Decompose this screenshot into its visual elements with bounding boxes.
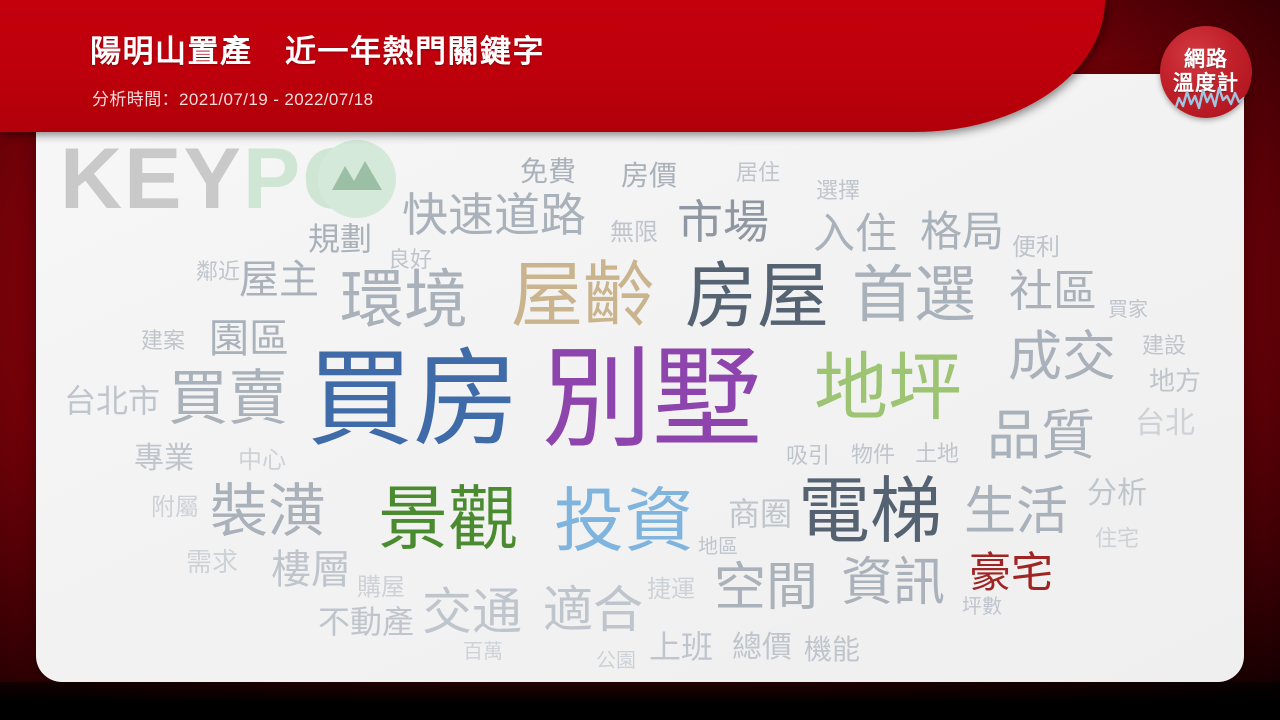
wordcloud-word[interactable]: 選擇 xyxy=(816,180,860,202)
wordcloud-word[interactable]: 屋主 xyxy=(239,260,319,300)
wordcloud-word[interactable]: 無限 xyxy=(610,221,658,245)
wordcloud-word[interactable]: 樓層 xyxy=(271,550,351,590)
wordcloud-word[interactable]: 台北市 xyxy=(64,385,160,417)
wordcloud-word[interactable]: 建案 xyxy=(141,330,185,352)
brand-logo[interactable]: 網路 溫度計 xyxy=(1160,26,1252,118)
background-bottom-bar xyxy=(0,682,1280,720)
wordcloud-word[interactable]: 公園 xyxy=(596,651,636,671)
wordcloud-word[interactable]: 景觀 xyxy=(378,484,518,554)
wordcloud-word[interactable]: 免費 xyxy=(520,158,576,186)
screenshot-root: KEYPO 買房別墅電梯地坪房屋屋齡景觀投資買賣環境首選裝潢成交品質空間資訊生活… xyxy=(0,0,1280,720)
analysis-period-label: 分析時間：2021/07/19 - 2022/07/18 xyxy=(92,85,373,110)
wordcloud-word[interactable]: 不動產 xyxy=(318,606,414,638)
wordcloud-word[interactable]: 建設 xyxy=(1142,335,1186,357)
wordcloud-word[interactable]: 吸引 xyxy=(786,445,830,467)
wordcloud-card: KEYPO 買房別墅電梯地坪房屋屋齡景觀投資買賣環境首選裝潢成交品質空間資訊生活… xyxy=(36,74,1244,682)
wordcloud-word[interactable]: 快速道路 xyxy=(402,192,586,238)
wordcloud-word[interactable]: 專業 xyxy=(134,444,194,474)
wordcloud-word[interactable]: 資訊 xyxy=(841,557,945,609)
wordcloud-word[interactable]: 機能 xyxy=(804,636,860,664)
wordcloud-word[interactable]: 便利 xyxy=(1012,236,1060,260)
wordcloud-word[interactable]: 地坪 xyxy=(814,351,962,425)
wordcloud-canvas: 買房別墅電梯地坪房屋屋齡景觀投資買賣環境首選裝潢成交品質空間資訊生活交通適合快速… xyxy=(36,74,1244,682)
wordcloud-word[interactable]: 物件 xyxy=(851,444,895,466)
wordcloud-word[interactable]: 購屋 xyxy=(357,576,405,600)
wordcloud-word[interactable]: 電梯 xyxy=(798,476,942,548)
wordcloud-word[interactable]: 生活 xyxy=(964,486,1068,538)
wordcloud-word[interactable]: 總價 xyxy=(732,633,792,663)
wordcloud-word[interactable]: 上班 xyxy=(649,631,713,663)
wordcloud-word[interactable]: 坪數 xyxy=(962,597,1002,617)
waveform-icon xyxy=(1164,84,1248,114)
wordcloud-word[interactable]: 買賣 xyxy=(168,369,288,429)
wordcloud-word[interactable]: 地區 xyxy=(698,537,738,557)
page-title: 陽明山置產 近一年熱門關鍵字 xyxy=(90,26,545,71)
wordcloud-word[interactable]: 社區 xyxy=(1009,270,1097,314)
wordcloud-word[interactable]: 適合 xyxy=(543,585,643,635)
wordcloud-word[interactable]: 台北 xyxy=(1135,409,1195,439)
wordcloud-word[interactable]: 居住 xyxy=(736,162,780,184)
wordcloud-word[interactable]: 規劃 xyxy=(308,223,372,255)
wordcloud-word[interactable]: 投資 xyxy=(554,486,694,556)
wordcloud-word[interactable]: 品質 xyxy=(987,409,1095,463)
wordcloud-word[interactable]: 住宅 xyxy=(1095,528,1139,550)
wordcloud-word[interactable]: 房價 xyxy=(621,162,677,190)
wordcloud-word[interactable]: 入住 xyxy=(813,213,897,255)
wordcloud-word[interactable]: 交通 xyxy=(422,587,522,637)
wordcloud-word[interactable]: 土地 xyxy=(915,443,959,465)
wordcloud-word[interactable]: 分析 xyxy=(1087,479,1147,509)
wordcloud-word[interactable]: 市場 xyxy=(677,199,769,245)
wordcloud-word[interactable]: 附屬 xyxy=(151,496,199,520)
wordcloud-word[interactable]: 鄰近 xyxy=(196,261,240,283)
wordcloud-word[interactable]: 園區 xyxy=(209,319,289,359)
wordcloud-word[interactable]: 裝潢 xyxy=(210,483,326,541)
wordcloud-word[interactable]: 環境 xyxy=(340,268,468,332)
wordcloud-word[interactable]: 商圈 xyxy=(728,498,792,530)
wordcloud-word[interactable]: 豪宅 xyxy=(969,552,1053,594)
wordcloud-word[interactable]: 空間 xyxy=(714,562,818,614)
wordcloud-word[interactable]: 格局 xyxy=(920,211,1004,253)
wordcloud-word[interactable]: 需求 xyxy=(186,549,238,575)
wordcloud-word[interactable]: 買家 xyxy=(1108,300,1148,320)
wordcloud-word[interactable]: 成交 xyxy=(1008,330,1116,384)
wordcloud-word[interactable]: 買房 xyxy=(307,347,519,453)
wordcloud-word[interactable]: 房屋 xyxy=(685,261,829,333)
wordcloud-word[interactable]: 良好 xyxy=(388,249,432,271)
wordcloud-word[interactable]: 中心 xyxy=(238,449,286,473)
wordcloud-word[interactable]: 百萬 xyxy=(463,642,503,662)
header-banner: 陽明山置產 近一年熱門關鍵字 分析時間：2021/07/19 - 2022/07… xyxy=(0,0,1105,132)
wordcloud-word[interactable]: 屋齡 xyxy=(511,260,655,332)
wordcloud-word[interactable]: 地方 xyxy=(1149,368,1201,394)
wordcloud-word[interactable]: 捷運 xyxy=(647,578,695,602)
wordcloud-word[interactable]: 首選 xyxy=(852,265,976,327)
wordcloud-word[interactable]: 別墅 xyxy=(542,345,762,455)
